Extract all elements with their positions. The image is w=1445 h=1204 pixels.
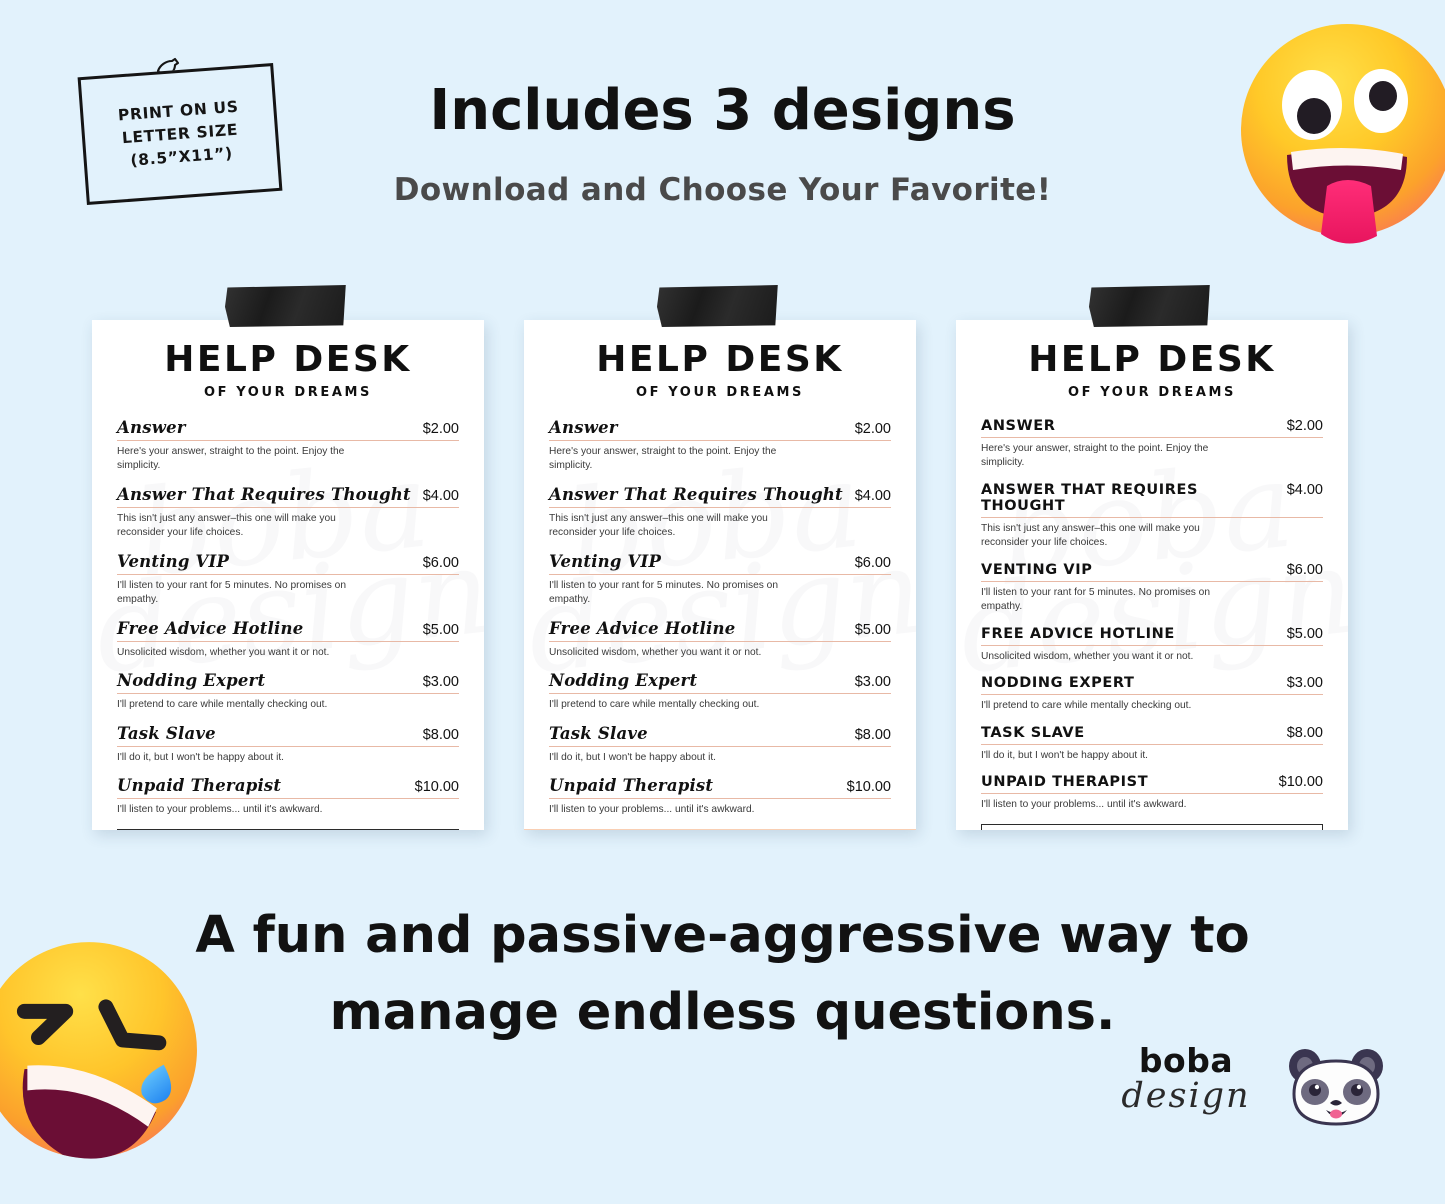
menu-item[interactable]: Answer That Requires Thought$4.00This is… <box>549 485 891 541</box>
menu-item-name: Venting VIP <box>117 552 229 571</box>
menu-item-description: I'll do it, but I won't be happy about i… <box>117 751 372 765</box>
menu-item[interactable]: Nodding Expert$3.00I'll pretend to care … <box>117 671 459 712</box>
menu-item[interactable]: Venting VIP$6.00I'll listen to your rant… <box>981 562 1323 615</box>
menu-body: HELP DESKOF YOUR DREAMSAnswer$2.00Here's… <box>92 320 484 830</box>
menu-item-name: Free Advice Hotline <box>117 619 303 638</box>
menu-item[interactable]: Venting VIP$6.00I'll listen to your rant… <box>549 552 891 608</box>
menu-item-description: I'll listen to your problems... until it… <box>117 803 372 817</box>
menu-item-name: Unpaid Therapist <box>981 774 1148 790</box>
menu-item-description: I'll do it, but I won't be happy about i… <box>981 749 1236 763</box>
menu-item-price: $3.00 <box>413 674 459 690</box>
menu-item-name: Unpaid Therapist <box>117 776 281 795</box>
menu-title: HELP DESK <box>117 342 459 378</box>
menu-item-list: Answer$2.00Here's your answer, straight … <box>117 418 459 829</box>
menu-item-price: $2.00 <box>1277 418 1323 434</box>
menu-item-name: Free Advice Hotline <box>549 619 735 638</box>
menu-item-price: $3.00 <box>845 674 891 690</box>
menu-item-name: Nodding Expert <box>117 671 265 690</box>
menu-item[interactable]: Answer That Requires Thought$4.00This is… <box>117 485 459 541</box>
menu-item-description: I'll pretend to care while mentally chec… <box>981 699 1236 713</box>
menu-item[interactable]: Answer$2.00Here's your answer, straight … <box>117 418 459 474</box>
menu-item-description: I'll pretend to care while mentally chec… <box>117 698 372 712</box>
menu-item-price: $4.00 <box>413 488 459 504</box>
menu-item-price: $2.00 <box>413 421 459 437</box>
menu-item-description: Here's your answer, straight to the poin… <box>981 442 1236 471</box>
menu-item-price: $2.00 <box>845 421 891 437</box>
menu-item-price: $4.00 <box>1277 482 1323 498</box>
menu-item-description: I'll listen to your rant for 5 minutes. … <box>117 579 372 608</box>
menu-item-description: I'll listen to your problems... until it… <box>549 803 804 817</box>
menu-item-price: $6.00 <box>413 555 459 571</box>
menu-item-description: I'll pretend to care while mentally chec… <box>549 698 804 712</box>
menu-item[interactable]: Answer That Requires Thought$4.00This is… <box>981 482 1323 551</box>
menu-item-name: Answer That Requires Thought <box>117 485 411 504</box>
menu-item-name: Answer That Requires Thought <box>549 485 843 504</box>
menu-item-price: $10.00 <box>1269 774 1323 790</box>
menu-item[interactable]: Free Advice Hotline$5.00Unsolicited wisd… <box>981 626 1323 664</box>
menu-item-price: $10.00 <box>405 779 459 795</box>
menu-item-description: Unsolicited wisdom, whether you want it … <box>117 646 372 660</box>
menu-item-name: Unpaid Therapist <box>549 776 713 795</box>
menu-item[interactable]: Free Advice Hotline$5.00Unsolicited wisd… <box>117 619 459 660</box>
menu-item-price: $8.00 <box>845 727 891 743</box>
menu-item[interactable]: Venting VIP$6.00I'll listen to your rant… <box>117 552 459 608</box>
menu-item-description: This isn't just any answer–this one will… <box>981 522 1236 551</box>
menu-item[interactable]: Task Slave$8.00I'll do it, but I won't b… <box>981 725 1323 763</box>
menu-item-description: Unsolicited wisdom, whether you want it … <box>549 646 804 660</box>
menu-subtitle: OF YOUR DREAMS <box>549 385 891 400</box>
menu-item-name: Task Slave <box>117 724 216 743</box>
menu-subtitle: OF YOUR DREAMS <box>117 385 459 400</box>
menu-item-name: Answer <box>549 418 618 437</box>
menu-item[interactable]: Nodding Expert$3.00I'll pretend to care … <box>549 671 891 712</box>
menu-item-name: Free Advice Hotline <box>981 626 1175 642</box>
badge-line-3: (8.5”X11”) <box>130 144 234 169</box>
menu-item[interactable]: Unpaid Therapist$10.00I'll listen to you… <box>549 776 891 817</box>
menu-title: HELP DESK <box>981 342 1323 378</box>
menu-item-price: $10.00 <box>837 779 891 795</box>
menu-item-description: Here's your answer, straight to the poin… <box>117 445 372 474</box>
menu-item-price: $6.00 <box>845 555 891 571</box>
page-title: Includes 3 designs <box>0 78 1445 143</box>
menu-item-list: Answer$2.00Here's your answer, straight … <box>981 418 1323 824</box>
logo-design-text: design <box>1092 1079 1280 1114</box>
menu-item-description: I'll do it, but I won't be happy about i… <box>549 751 804 765</box>
menu-item[interactable]: Task Slave$8.00I'll do it, but I won't b… <box>117 724 459 765</box>
menu-item[interactable]: Unpaid Therapist$10.00I'll listen to you… <box>117 776 459 817</box>
menu-title: HELP DESK <box>549 342 891 378</box>
menu-item[interactable]: Nodding Expert$3.00I'll pretend to care … <box>981 675 1323 713</box>
extras-section: EXTRASAdd a sincere smile for $1Include … <box>981 824 1323 830</box>
menu-item-description: This isn't just any answer–this one will… <box>549 512 804 541</box>
menu-item-price: $8.00 <box>413 727 459 743</box>
extras-section: EXTRASAdd a sincere smile for $1Include … <box>524 829 916 830</box>
zany-face-emoji <box>1231 18 1445 250</box>
panda-icon <box>1284 1040 1388 1140</box>
menu-item-name: Nodding Expert <box>981 675 1134 691</box>
menu-item-name: Nodding Expert <box>549 671 697 690</box>
logo-boba-text: boba <box>1092 1044 1280 1077</box>
menu-item-price: $5.00 <box>413 622 459 638</box>
tape-strip <box>225 285 347 327</box>
menu-item-name: Task Slave <box>981 725 1085 741</box>
menu-item-price: $5.00 <box>1277 626 1323 642</box>
menu-item-price: $3.00 <box>1277 675 1323 691</box>
menu-item-price: $4.00 <box>845 488 891 504</box>
logo-wordmark: boba design <box>1092 1044 1280 1114</box>
menu-item-description: I'll listen to your problems... until it… <box>981 798 1236 812</box>
menu-subtitle: OF YOUR DREAMS <box>981 385 1323 400</box>
menu-body: HELP DESKOF YOUR DREAMSAnswer$2.00Here's… <box>956 320 1348 830</box>
menu-item-description: I'll listen to your rant for 5 minutes. … <box>981 586 1236 615</box>
menu-item-name: Answer <box>981 418 1055 434</box>
menu-body: HELP DESKOF YOUR DREAMSAnswer$2.00Here's… <box>524 320 916 830</box>
menu-item-description: Here's your answer, straight to the poin… <box>549 445 804 474</box>
menu-item-price: $6.00 <box>1277 562 1323 578</box>
menu-item-list: Answer$2.00Here's your answer, straight … <box>549 418 891 829</box>
brand-logo: boba design <box>1088 1040 1388 1144</box>
menu-item[interactable]: Task Slave$8.00I'll do it, but I won't b… <box>549 724 891 765</box>
page-subtitle: Download and Choose Your Favorite! <box>0 172 1445 208</box>
menu-design-card[interactable]: bobadesignHELP DESKOF YOUR DREAMSAnswer$… <box>92 320 484 830</box>
menu-item[interactable]: Unpaid Therapist$10.00I'll listen to you… <box>981 774 1323 812</box>
extras-section: EXTRASAdd a sincere smile for $1Include … <box>117 829 459 830</box>
menu-item-price: $8.00 <box>1277 725 1323 741</box>
menu-item[interactable]: Free Advice Hotline$5.00Unsolicited wisd… <box>549 619 891 660</box>
menu-item-name: Task Slave <box>549 724 648 743</box>
menu-item[interactable]: Answer$2.00Here's your answer, straight … <box>549 418 891 474</box>
tape-strip <box>657 285 779 327</box>
tape-strip <box>1089 285 1211 327</box>
menu-design-card[interactable]: bobadesignHELP DESKOF YOUR DREAMSAnswer$… <box>956 320 1348 830</box>
menu-item-description: Unsolicited wisdom, whether you want it … <box>981 650 1236 664</box>
menu-item-description: I'll listen to your rant for 5 minutes. … <box>549 579 804 608</box>
menu-item-name: Venting VIP <box>981 562 1092 578</box>
menu-item-description: This isn't just any answer–this one will… <box>117 512 372 541</box>
menu-item-name: Answer <box>117 418 186 437</box>
menu-item-name: Venting VIP <box>549 552 661 571</box>
menu-item[interactable]: Answer$2.00Here's your answer, straight … <box>981 418 1323 471</box>
menu-item-name: Answer That Requires Thought <box>981 482 1277 514</box>
menu-item-price: $5.00 <box>845 622 891 638</box>
menu-design-card[interactable]: bobadesignHELP DESKOF YOUR DREAMSAnswer$… <box>524 320 916 830</box>
